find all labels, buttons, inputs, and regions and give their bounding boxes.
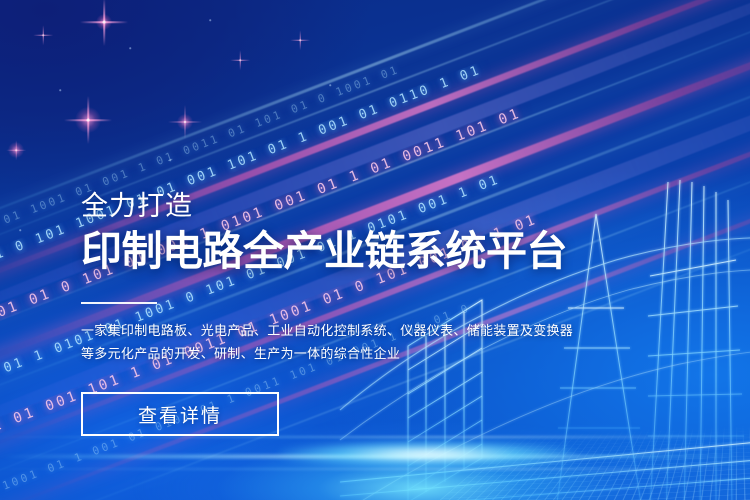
hero-eyebrow: 全力打造 xyxy=(81,192,573,222)
hero-description-line-1: 一家集印制电路板、光电产品、工业自动化控制系统、仪器仪表、储能装置及变换器 xyxy=(81,319,573,342)
view-details-button[interactable]: 查看详情 xyxy=(81,392,279,436)
light-burst-core xyxy=(278,441,578,467)
light-sweep xyxy=(0,436,750,438)
hero-description-line-2: 等多元化产品的开发、研制、生产为一体的综合性企业 xyxy=(81,342,573,365)
hero-banner: 01 001 01 01 1001 01 001 1 01 0011 01 10… xyxy=(0,0,750,500)
page-title: 印制电路全产业链系统平台 xyxy=(81,229,573,275)
title-divider xyxy=(81,302,157,304)
light-sweep xyxy=(0,468,750,470)
hero-content: 全力打造 印制电路全产业链系统平台 一家集印制电路板、光电产品、工业自动化控制系… xyxy=(81,192,573,436)
hero-description: 一家集印制电路板、光电产品、工业自动化控制系统、仪器仪表、储能装置及变换器 等多… xyxy=(81,319,573,365)
